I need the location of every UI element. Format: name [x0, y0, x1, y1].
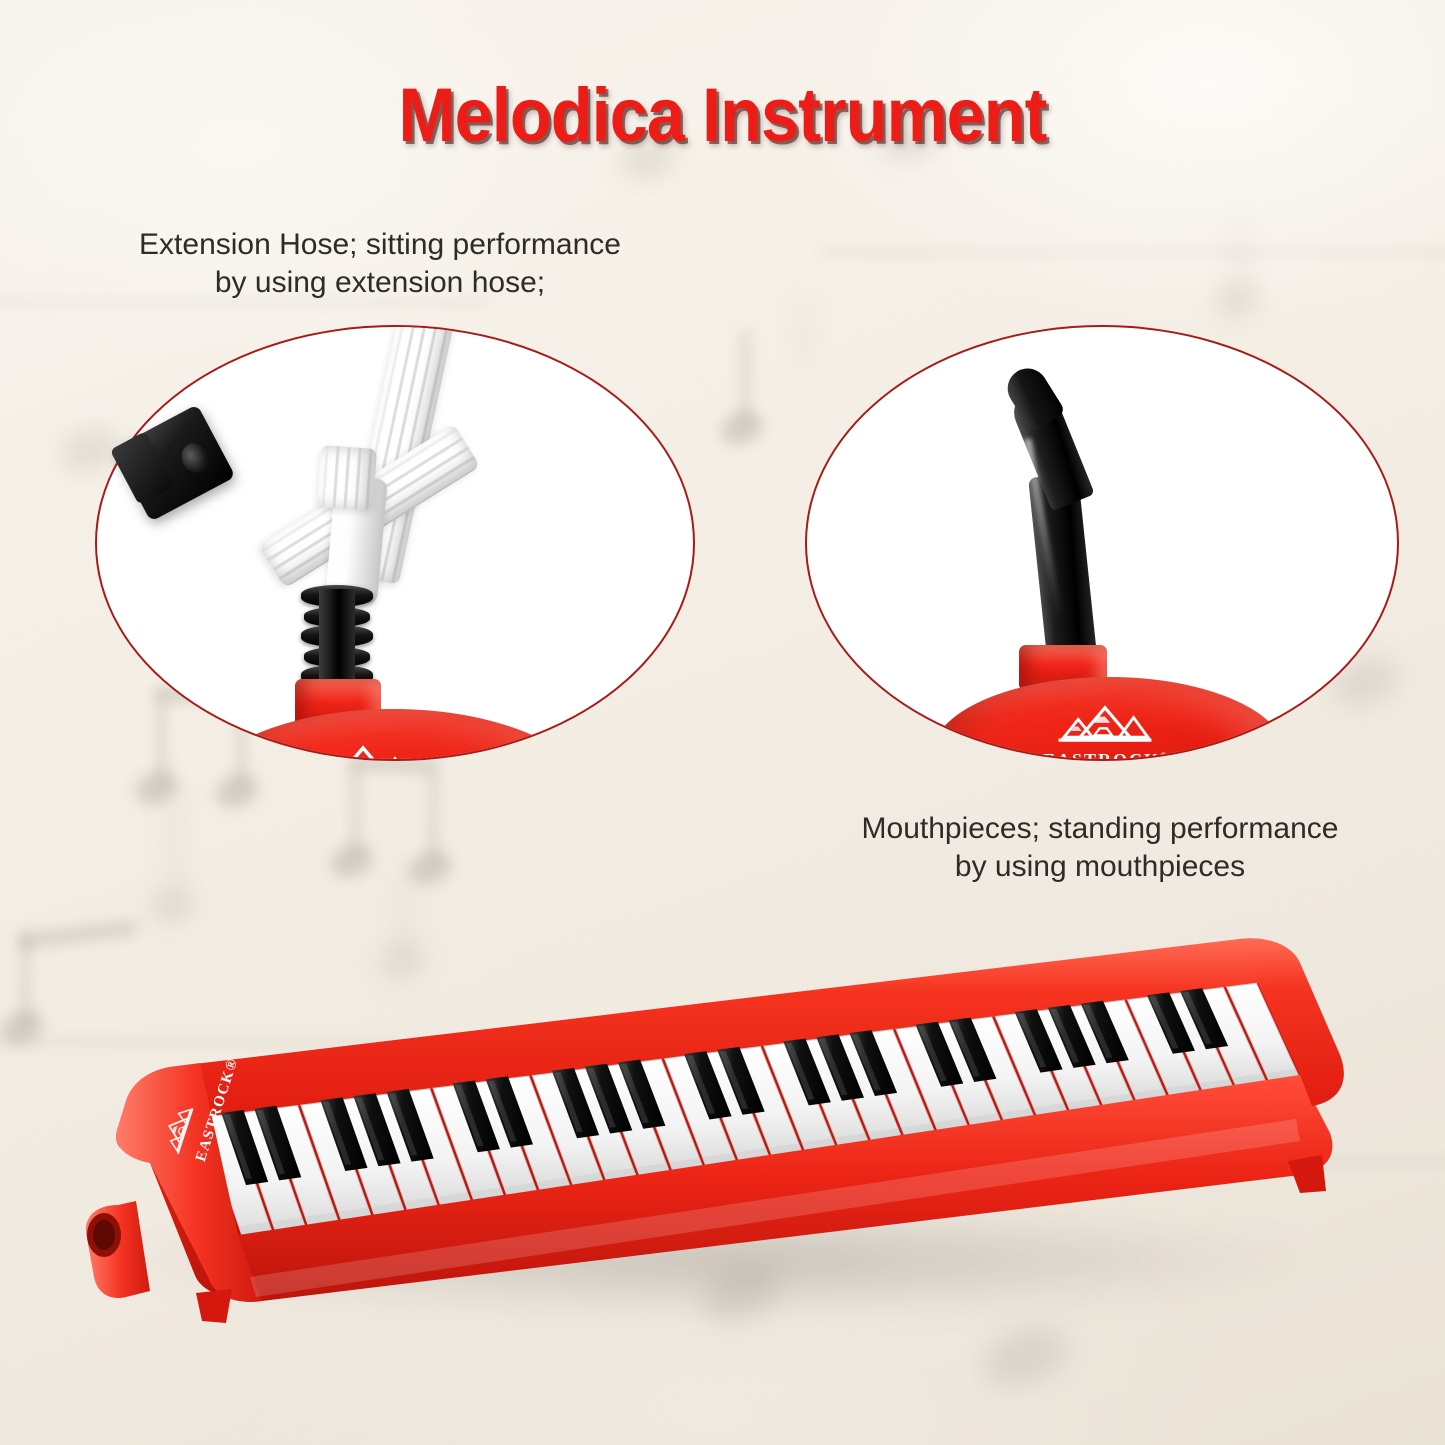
caption-mouthpieces: Mouthpieces; standing performance by usi… — [780, 810, 1420, 885]
product-marketing-image: Melodica Instrument Extension Hose; sitt… — [0, 0, 1445, 1445]
hose-corrugated-band — [317, 445, 377, 511]
connector-shaft — [319, 589, 355, 685]
note-stem — [352, 760, 359, 856]
page-title: Melodica Instrument — [72, 72, 1373, 159]
melodica-body-top — [931, 677, 1287, 761]
caption-extension-hose: Extension Hose; sitting performance by u… — [60, 226, 700, 301]
note-stem — [800, 300, 807, 370]
detail-circle-extension-hose: EASTROCK® — [95, 325, 695, 761]
melodica-illustration: EASTROCK® — [0, 905, 1445, 1375]
melodica-product-photo: EASTROCK® — [0, 905, 1445, 1375]
note-stem — [430, 768, 437, 864]
air-outlet-nozzle — [86, 1201, 150, 1298]
staff-line — [820, 250, 1445, 255]
support-foot-right — [1288, 1155, 1326, 1193]
detail-circle-mouthpiece: EASTROCK® — [805, 325, 1399, 761]
support-foot-left — [196, 1289, 232, 1323]
